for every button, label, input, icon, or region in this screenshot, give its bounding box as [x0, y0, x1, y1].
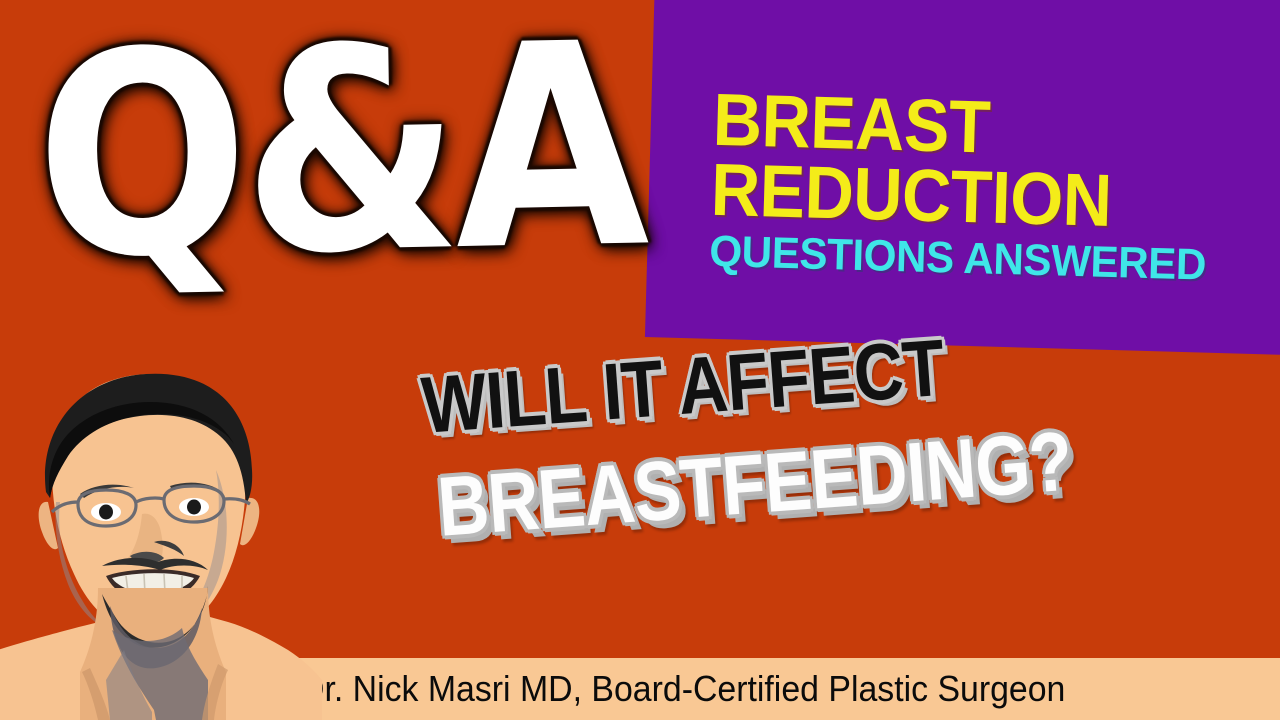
qa-logo: Q&A	[34, 6, 644, 298]
presenter-name-text: Dr. Nick Masri MD, Board-Certified Plast…	[300, 668, 1065, 710]
headline-line-2: BREASTFEEDING?	[435, 426, 997, 547]
banner-line-2: REDUCTION	[710, 156, 1243, 239]
topic-banner-content: BREAST REDUCTION QUESTIONS ANSWERED	[645, 0, 1280, 355]
presenter-portrait	[0, 352, 324, 720]
headline-group: WILL IT AFFECT BREASTFEEDING?	[422, 368, 1102, 547]
banner-line-3: QUESTIONS ANSWERED	[709, 232, 1265, 288]
thumbnail-canvas: BREAST REDUCTION QUESTIONS ANSWERED Q&A …	[0, 0, 1280, 720]
topic-banner: BREAST REDUCTION QUESTIONS ANSWERED	[645, 0, 1280, 355]
